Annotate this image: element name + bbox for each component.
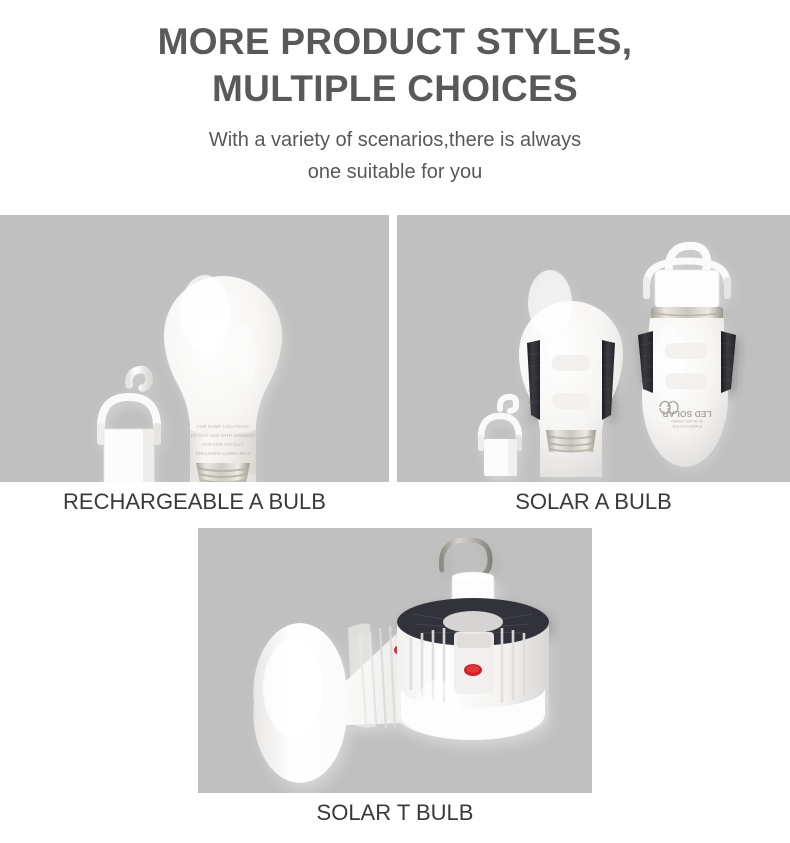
caption-solar-a-bulb: SOLAR A BULB [397,489,790,515]
svg-text:NOT FOR TOTALLY: NOT FOR TOTALLY [202,442,243,447]
caption-rechargeable-a-bulb: RECHARGEABLE A BULB [0,489,389,515]
product-image-solar-t-bulb[interactable] [198,528,592,793]
page-title-line-1: MORE PRODUCT STYLES, [0,18,790,65]
product-image-rechargeable-a-bulb[interactable]: FOR DAMP LOCATIONS DO NOT USE WITH DIMME… [0,215,389,482]
header: MORE PRODUCT STYLES, MULTIPLE CHOICES Wi… [0,0,790,188]
caption-solar-t-bulb: SOLAR T BULB [198,800,592,826]
solar-t-bulb-illustration [198,528,592,793]
svg-text:ENCLOSED LUMINAIRES: ENCLOSED LUMINAIRES [196,451,251,456]
product-showcase-page: MORE PRODUCT STYLES, MULTIPLE CHOICES Wi… [0,0,790,843]
rechargeable-a-bulb-illustration: FOR DAMP LOCATIONS DO NOT USE WITH DIMME… [0,215,389,482]
svg-text:AC 85-265V 50/60Hz: AC 85-265V 50/60Hz [671,419,703,423]
page-title-line-2: MULTIPLE CHOICES [0,65,790,112]
page-subtitle: With a variety of scenarios,there is alw… [0,112,790,188]
product-image-solar-a-bulb[interactable]: LED SOLAR AC 85-265V 50/60Hz POWER ELECT… [397,215,790,482]
svg-text:FOR DAMP LOCATIONS: FOR DAMP LOCATIONS [197,424,249,429]
page-title: MORE PRODUCT STYLES, MULTIPLE CHOICES [0,0,790,112]
page-subtitle-line-2: one suitable for you [0,156,790,188]
solar-a-bulb-illustration: LED SOLAR AC 85-265V 50/60Hz POWER ELECT… [397,215,790,482]
svg-text:DO NOT USE WITH DIMMERS: DO NOT USE WITH DIMMERS [191,433,255,438]
e27-screw-base [196,463,250,482]
svg-text:POWER ELECTRIC: POWER ELECTRIC [671,424,702,428]
e27-screw-base [546,430,596,452]
page-subtitle-line-1: With a variety of scenarios,there is alw… [0,124,790,156]
